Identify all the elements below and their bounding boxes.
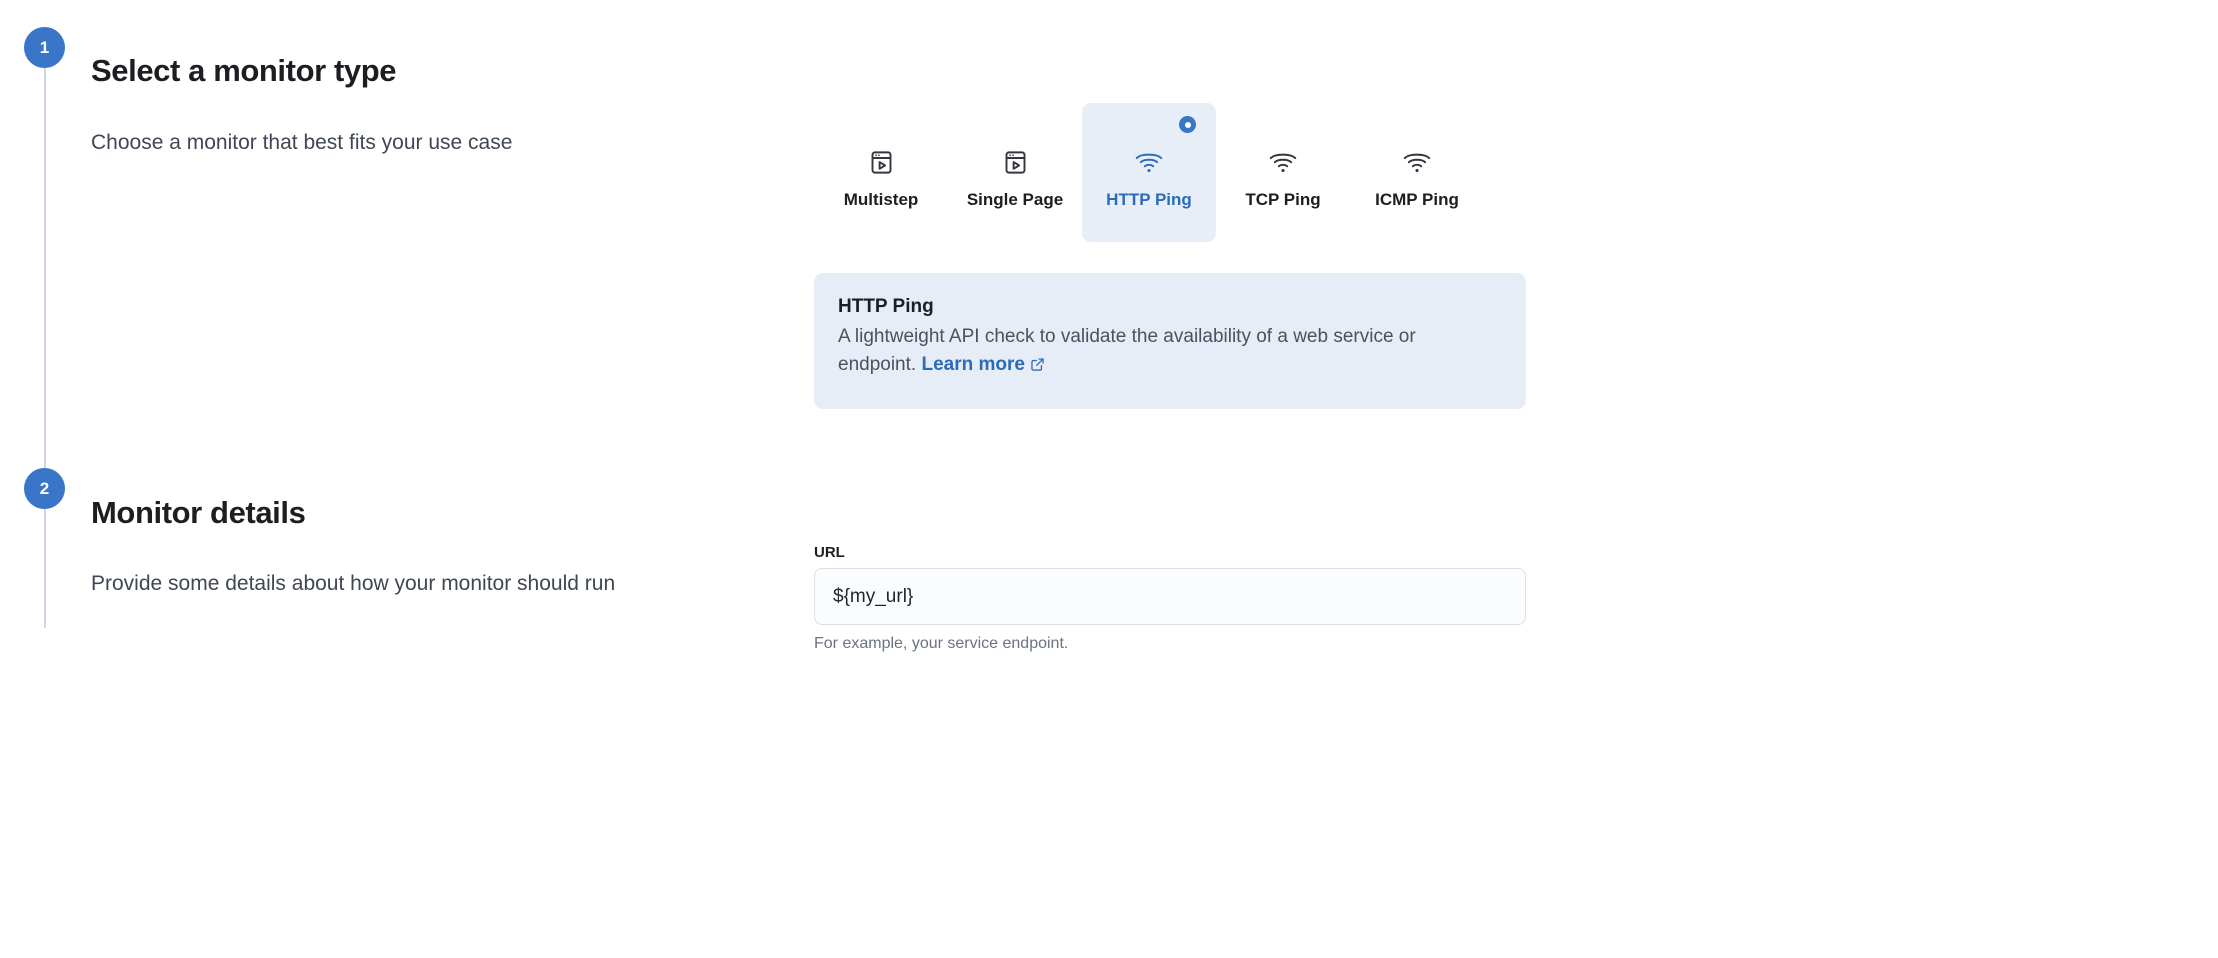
step-2-subtitle: Provide some details about how your moni…: [91, 570, 615, 597]
step-badge-2: 2: [24, 468, 65, 509]
monitor-type-label: TCP Ping: [1245, 191, 1320, 208]
monitor-type-label: HTTP Ping: [1106, 191, 1192, 208]
browser-play-icon: [1002, 147, 1029, 177]
monitor-type-option-single-page[interactable]: Single Page: [948, 103, 1082, 242]
info-panel-description: A lightweight API check to validate the …: [838, 323, 1498, 381]
wifi-ping-icon: [1268, 147, 1298, 177]
wifi-ping-icon: [1134, 147, 1164, 177]
monitor-type-option-multistep[interactable]: Multistep: [814, 103, 948, 242]
step-number-2: 2: [40, 480, 49, 497]
external-link-icon: [1030, 353, 1045, 381]
monitor-type-option-tcp-ping[interactable]: TCP Ping: [1216, 103, 1350, 242]
url-field-label: URL: [814, 545, 1526, 560]
stepper-connector-line: [44, 28, 46, 628]
url-field-group: URL For example, your service endpoint.: [814, 545, 1526, 653]
monitor-type-option-icmp-ping[interactable]: ICMP Ping: [1350, 103, 1484, 242]
create-monitor-wizard: 1 Select a monitor type Choose a monitor…: [0, 0, 1568, 677]
step-1-title: Select a monitor type: [91, 54, 396, 88]
info-panel-title: HTTP Ping: [838, 295, 1500, 319]
step-badge-1: 1: [24, 27, 65, 68]
monitor-type-option-http-ping[interactable]: HTTP Ping: [1082, 103, 1216, 242]
step-1-subtitle: Choose a monitor that best fits your use…: [91, 129, 512, 156]
browser-play-icon: [868, 147, 895, 177]
step-2-title: Monitor details: [91, 496, 305, 530]
monitor-type-selector: Multistep Single Page: [814, 103, 1526, 242]
radio-selected-icon[interactable]: [1179, 116, 1196, 133]
wifi-ping-icon: [1402, 147, 1432, 177]
monitor-type-label: Multistep: [844, 191, 919, 208]
learn-more-label: Learn more: [921, 354, 1024, 375]
step-number-1: 1: [40, 39, 49, 56]
url-field-help: For example, your service endpoint.: [814, 634, 1526, 653]
learn-more-link[interactable]: Learn more: [921, 354, 1044, 375]
url-input[interactable]: [814, 568, 1526, 625]
monitor-type-label: ICMP Ping: [1375, 191, 1459, 208]
monitor-type-info-panel: HTTP Ping A lightweight API check to val…: [814, 273, 1526, 409]
monitor-type-label: Single Page: [967, 191, 1063, 208]
